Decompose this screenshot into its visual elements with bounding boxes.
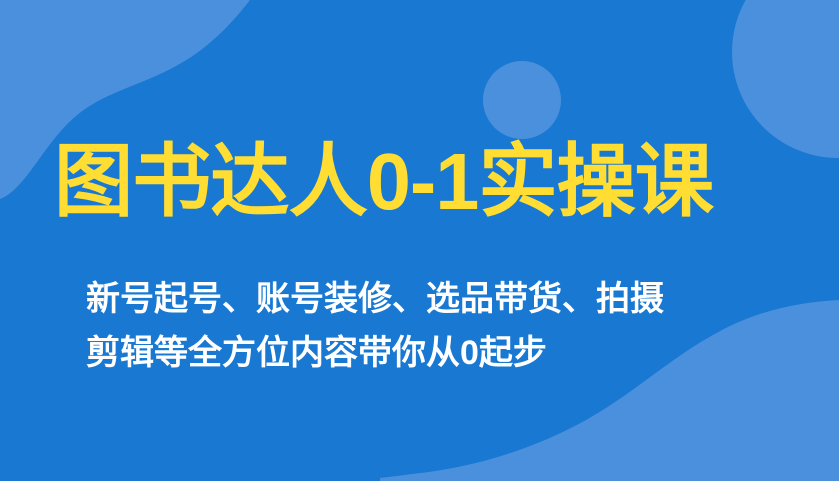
course-subtitle: 新号起号、账号装修、选品带货、拍摄 剪辑等全方位内容带你从0起步 [86,272,766,380]
course-banner: 图书达人0-1实操课 新号起号、账号装修、选品带货、拍摄 剪辑等全方位内容带你从… [0,0,839,481]
subtitle-line-1: 新号起号、账号装修、选品带货、拍摄 [86,272,766,326]
subtitle-line-2: 剪辑等全方位内容带你从0起步 [86,326,766,380]
course-title: 图书达人0-1实操课 [54,134,713,230]
banner-text-layer: 图书达人0-1实操课 新号起号、账号装修、选品带货、拍摄 剪辑等全方位内容带你从… [0,0,839,481]
